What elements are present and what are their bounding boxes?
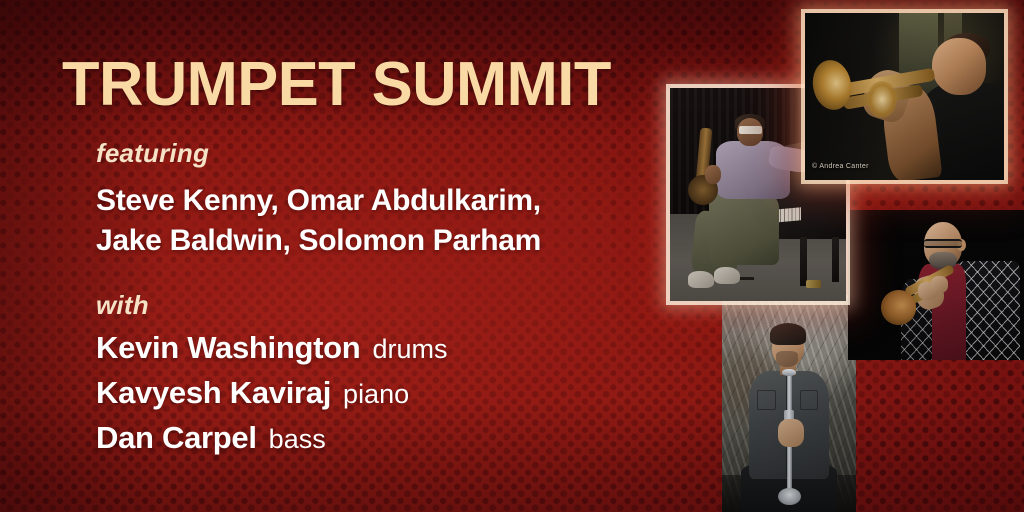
rhythm-member-instrument: drums [372,334,447,364]
photo-credit: © Andrea Canter [812,163,869,170]
featured-artists-line-2: Jake Baldwin, Solomon Parham [96,225,541,257]
rhythm-member-instrument: piano [343,379,409,409]
trumpet-bell-highlight [867,81,897,118]
featuring-label: featuring [96,138,209,169]
musician-hand-right [931,276,949,293]
rhythm-member-instrument: bass [269,424,326,454]
musician-hand [705,165,721,184]
shirt-pocket-right [800,390,819,410]
musician-shoe-left [688,271,714,288]
musician-shoe-right [714,267,740,284]
trumpet-mouthpiece [782,369,795,376]
rhythm-member-name: Kavyesh Kaviraj [96,375,331,410]
featured-artists-line-1: Steve Kenny, Omar Abdulkarim, [96,185,541,217]
piano-leg-right [832,237,839,282]
photo-bald-trumpeter-patterned-jacket [848,210,1024,360]
poster-text-column: TRUMPET SUMMIT featuring Steve Kenny, Om… [62,0,682,512]
eyeglasses [924,239,963,248]
photo-trumpeter-with-silver-trumpet [722,295,856,512]
rhythm-member-piano: Kavyesh Kavirajpiano [96,375,409,411]
sunglasses [739,126,762,133]
rhythm-member-drums: Kevin Washingtondrums [96,330,447,366]
musician-beard [776,351,799,366]
rhythm-member-name: Dan Carpel [96,420,257,455]
page-title: TRUMPET SUMMIT [62,54,611,116]
musician-trousers [709,192,779,264]
with-label: with [96,290,149,321]
trumpet-summit-poster: © Andrea Canter TRUMPET SUMMIT featuring… [0,0,1024,512]
musician-hair [770,323,806,345]
musician-hands [778,419,803,447]
rhythm-member-bass: Dan Carpelbass [96,420,326,456]
piano-leg-left [800,237,807,286]
rhythm-member-name: Kevin Washington [96,330,360,365]
piano-pedal [806,280,822,289]
musician-head [932,38,986,95]
shirt-pocket-left [757,390,776,410]
photo-trumpeter-black-tshirt: © Andrea Canter [805,13,1004,180]
